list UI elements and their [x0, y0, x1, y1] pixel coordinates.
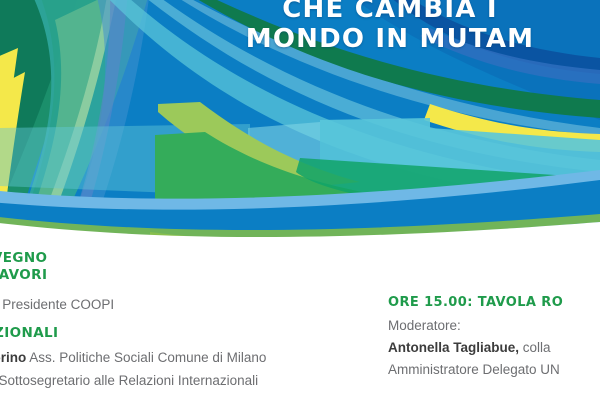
spacer — [0, 284, 358, 293]
program-block-convegno: CONVEGNO DEI LAVORI ravolo Presidente CO… — [0, 250, 358, 316]
heading-convegno-line-1: CONVEGNO — [0, 250, 358, 267]
moderator-role: colla — [523, 340, 551, 355]
spacer — [0, 316, 358, 325]
banner-svg — [0, 0, 600, 250]
poster-canvas: CHE CAMBIA I MONDO IN MUTAM CONVEGNO DEI… — [0, 0, 600, 400]
heading-istituzionali: TITUZIONALI — [0, 325, 358, 342]
speaker-role: Sottosegretario alle Relazioni Internazi… — [0, 373, 258, 388]
banner-graphic — [0, 0, 600, 250]
content-area: CONVEGNO DEI LAVORI ravolo Presidente CO… — [0, 250, 600, 400]
heading-tavola-rotonda: ORE 15.00: TAVOLA RO — [388, 294, 600, 311]
speaker-role: Ass. Politiche Sociali Comune di Milano — [29, 350, 266, 365]
right-column: ORE 15.00: TAVOLA RO Moderatore: Antonel… — [388, 294, 600, 380]
heading-convegno-line-2: DEI LAVORI — [0, 267, 358, 284]
moderator-entry: Antonella Tagliabue, colla — [388, 336, 600, 359]
moderator-subrole: Amministratore Delegato UN — [388, 359, 600, 380]
moderator-label: Moderatore: — [388, 315, 600, 336]
speaker-entry: o Majorino Ass. Politiche Sociali Comune… — [0, 346, 358, 369]
speaker-name: o Majorino — [0, 350, 26, 365]
speaker-role: Presidente COOPI — [2, 297, 114, 312]
speaker-entry: Fermi Sottosegretario alle Relazioni Int… — [0, 369, 358, 392]
speaker-entry: ravolo Presidente COOPI — [0, 293, 358, 316]
program-block-istituzionali: TITUZIONALI o Majorino Ass. Politiche So… — [0, 325, 358, 392]
left-column: CONVEGNO DEI LAVORI ravolo Presidente CO… — [0, 250, 358, 392]
moderator-name: Antonella Tagliabue, — [388, 340, 519, 355]
